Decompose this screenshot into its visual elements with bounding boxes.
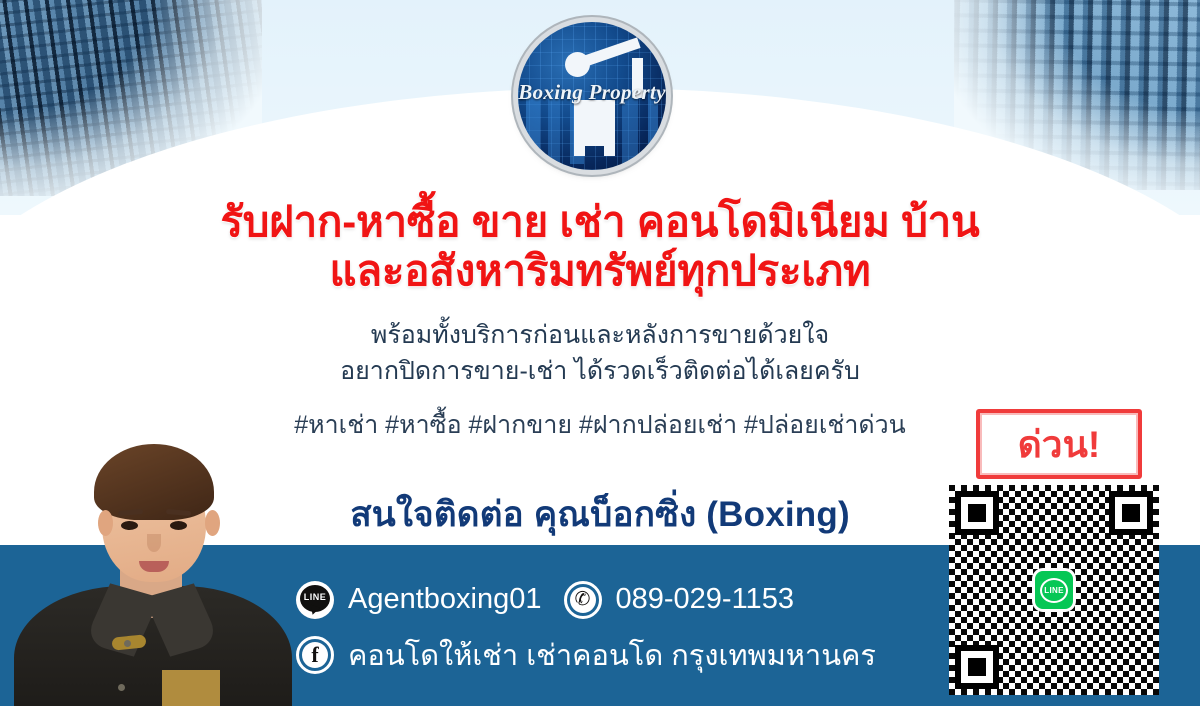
contact-row-2: f คอนโดให้เช่า เช่าคอนโด กรุงเทพมหานคร <box>296 627 936 682</box>
facebook-icon-inner: f <box>302 642 328 668</box>
subtitle-line-1: พร้อมทั้งบริการก่อนและหลังการขายด้วยใจ <box>0 318 1200 354</box>
portrait-shirt-button-lower <box>118 684 125 691</box>
portrait-name-badge <box>162 670 220 706</box>
line-logo-label: LINE <box>1040 578 1068 603</box>
phone-icon[interactable]: ✆ <box>564 581 602 619</box>
portrait-ear-left <box>98 510 113 536</box>
line-icon-label: LINE <box>296 592 334 602</box>
brand-logo: Boxing Property <box>518 22 666 170</box>
facebook-icon-glyph: f <box>311 644 318 666</box>
urgent-stamp: ด่วน! <box>976 409 1142 479</box>
portrait-shirt-button-upper <box>124 640 131 647</box>
advertisement-poster: Boxing Property รับฝาก-หาซื้อ ขาย เช่า ค… <box>0 0 1200 706</box>
line-qr-code[interactable]: LINE <box>949 485 1159 695</box>
portrait-eye-right <box>170 521 187 530</box>
portrait-nose <box>147 534 161 552</box>
qr-canvas: LINE <box>949 485 1159 695</box>
phone-icon-glyph: ✆ <box>575 590 591 609</box>
contact-row-1: LINE Agentboxing01 ✆ 089-029-1153 <box>296 572 936 627</box>
phone-number-value: 089-029-1153 <box>616 583 794 616</box>
logo-text: Boxing Property <box>518 80 666 105</box>
logo-figure-leg-right-icon <box>604 100 615 156</box>
logo-figure-body-icon <box>585 100 604 146</box>
line-id-value: Agentboxing01 <box>348 583 542 616</box>
line-logo-icon: LINE <box>1032 568 1076 612</box>
page-headline: รับฝาก-หาซื้อ ขาย เช่า คอนโดมิเนียม บ้าน… <box>0 198 1200 295</box>
line-icon[interactable]: LINE <box>296 581 334 619</box>
headline-line-1: รับฝาก-หาซื้อ ขาย เช่า คอนโดมิเนียม บ้าน <box>0 198 1200 247</box>
phone-icon-inner: ✆ <box>570 587 596 613</box>
qr-finder-top-right <box>1109 491 1153 535</box>
logo-figure-leg-left-icon <box>574 100 585 156</box>
agent-portrait <box>8 418 298 706</box>
headline-line-2: และอสังหาริมทรัพย์ทุกประเภท <box>0 247 1200 296</box>
facebook-page-value: คอนโดให้เช่า เช่าคอนโด กรุงเทพมหานคร <box>348 632 876 678</box>
subtitle-line-2: อยากปิดการขาย-เช่า ได้รวดเร็วติดต่อได้เล… <box>0 354 1200 390</box>
facebook-icon[interactable]: f <box>296 636 334 674</box>
contact-phone[interactable]: ✆ 089-029-1153 <box>564 581 794 619</box>
qr-finder-bottom-left <box>955 645 999 689</box>
contact-line[interactable]: LINE Agentboxing01 <box>296 581 542 619</box>
qr-finder-top-left <box>955 491 999 535</box>
portrait-hair <box>94 444 214 520</box>
page-subtitle: พร้อมทั้งบริการก่อนและหลังการขายด้วยใจ อ… <box>0 318 1200 389</box>
portrait-ear-right <box>205 510 220 536</box>
contact-facebook[interactable]: f คอนโดให้เช่า เช่าคอนโด กรุงเทพมหานคร <box>296 632 876 678</box>
portrait-eye-left <box>121 521 138 530</box>
contact-rows: LINE Agentboxing01 ✆ 089-029-1153 f <box>296 572 936 682</box>
